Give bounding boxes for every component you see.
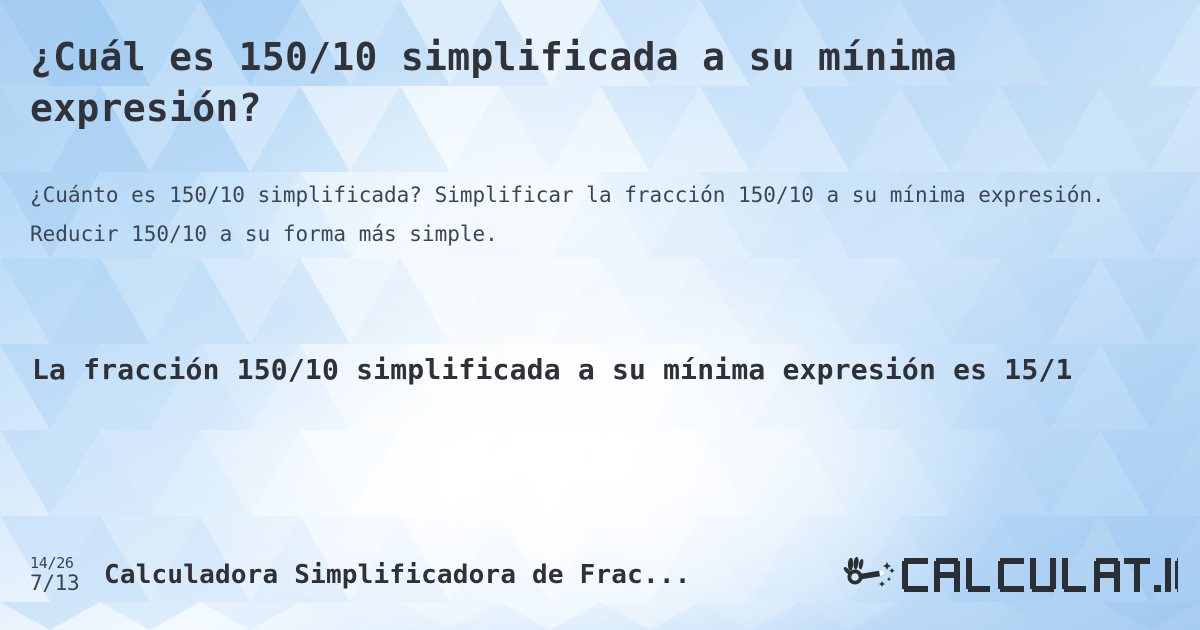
card-content: ¿Cuál es 150/10 simplificada a su mínima… — [0, 0, 1200, 630]
lead-description: ¿Cuánto es 150/10 simplificada? Simplifi… — [30, 176, 1160, 254]
brand-wordmark — [902, 555, 1178, 595]
fraction-badge-top: 14/26 — [30, 556, 74, 571]
brand-logo[interactable] — [840, 551, 1178, 599]
footer-site-title: Calculadora Simplificadora de Frac... — [104, 560, 691, 590]
social-card: ¿Cuál es 150/10 simplificada a su mínima… — [0, 0, 1200, 630]
answer-statement: La fracción 150/10 simplificada a su mín… — [32, 345, 1112, 394]
hand-magic-wand-icon — [840, 555, 896, 595]
fraction-badge-bottom: 7/13 — [30, 573, 79, 594]
page-title: ¿Cuál es 150/10 simplificada a su mínima… — [30, 32, 1060, 134]
fraction-badge-icon: 14/26 7/13 — [30, 556, 98, 594]
footer: 14/26 7/13 Calculadora Simplificadora de… — [0, 545, 1200, 605]
